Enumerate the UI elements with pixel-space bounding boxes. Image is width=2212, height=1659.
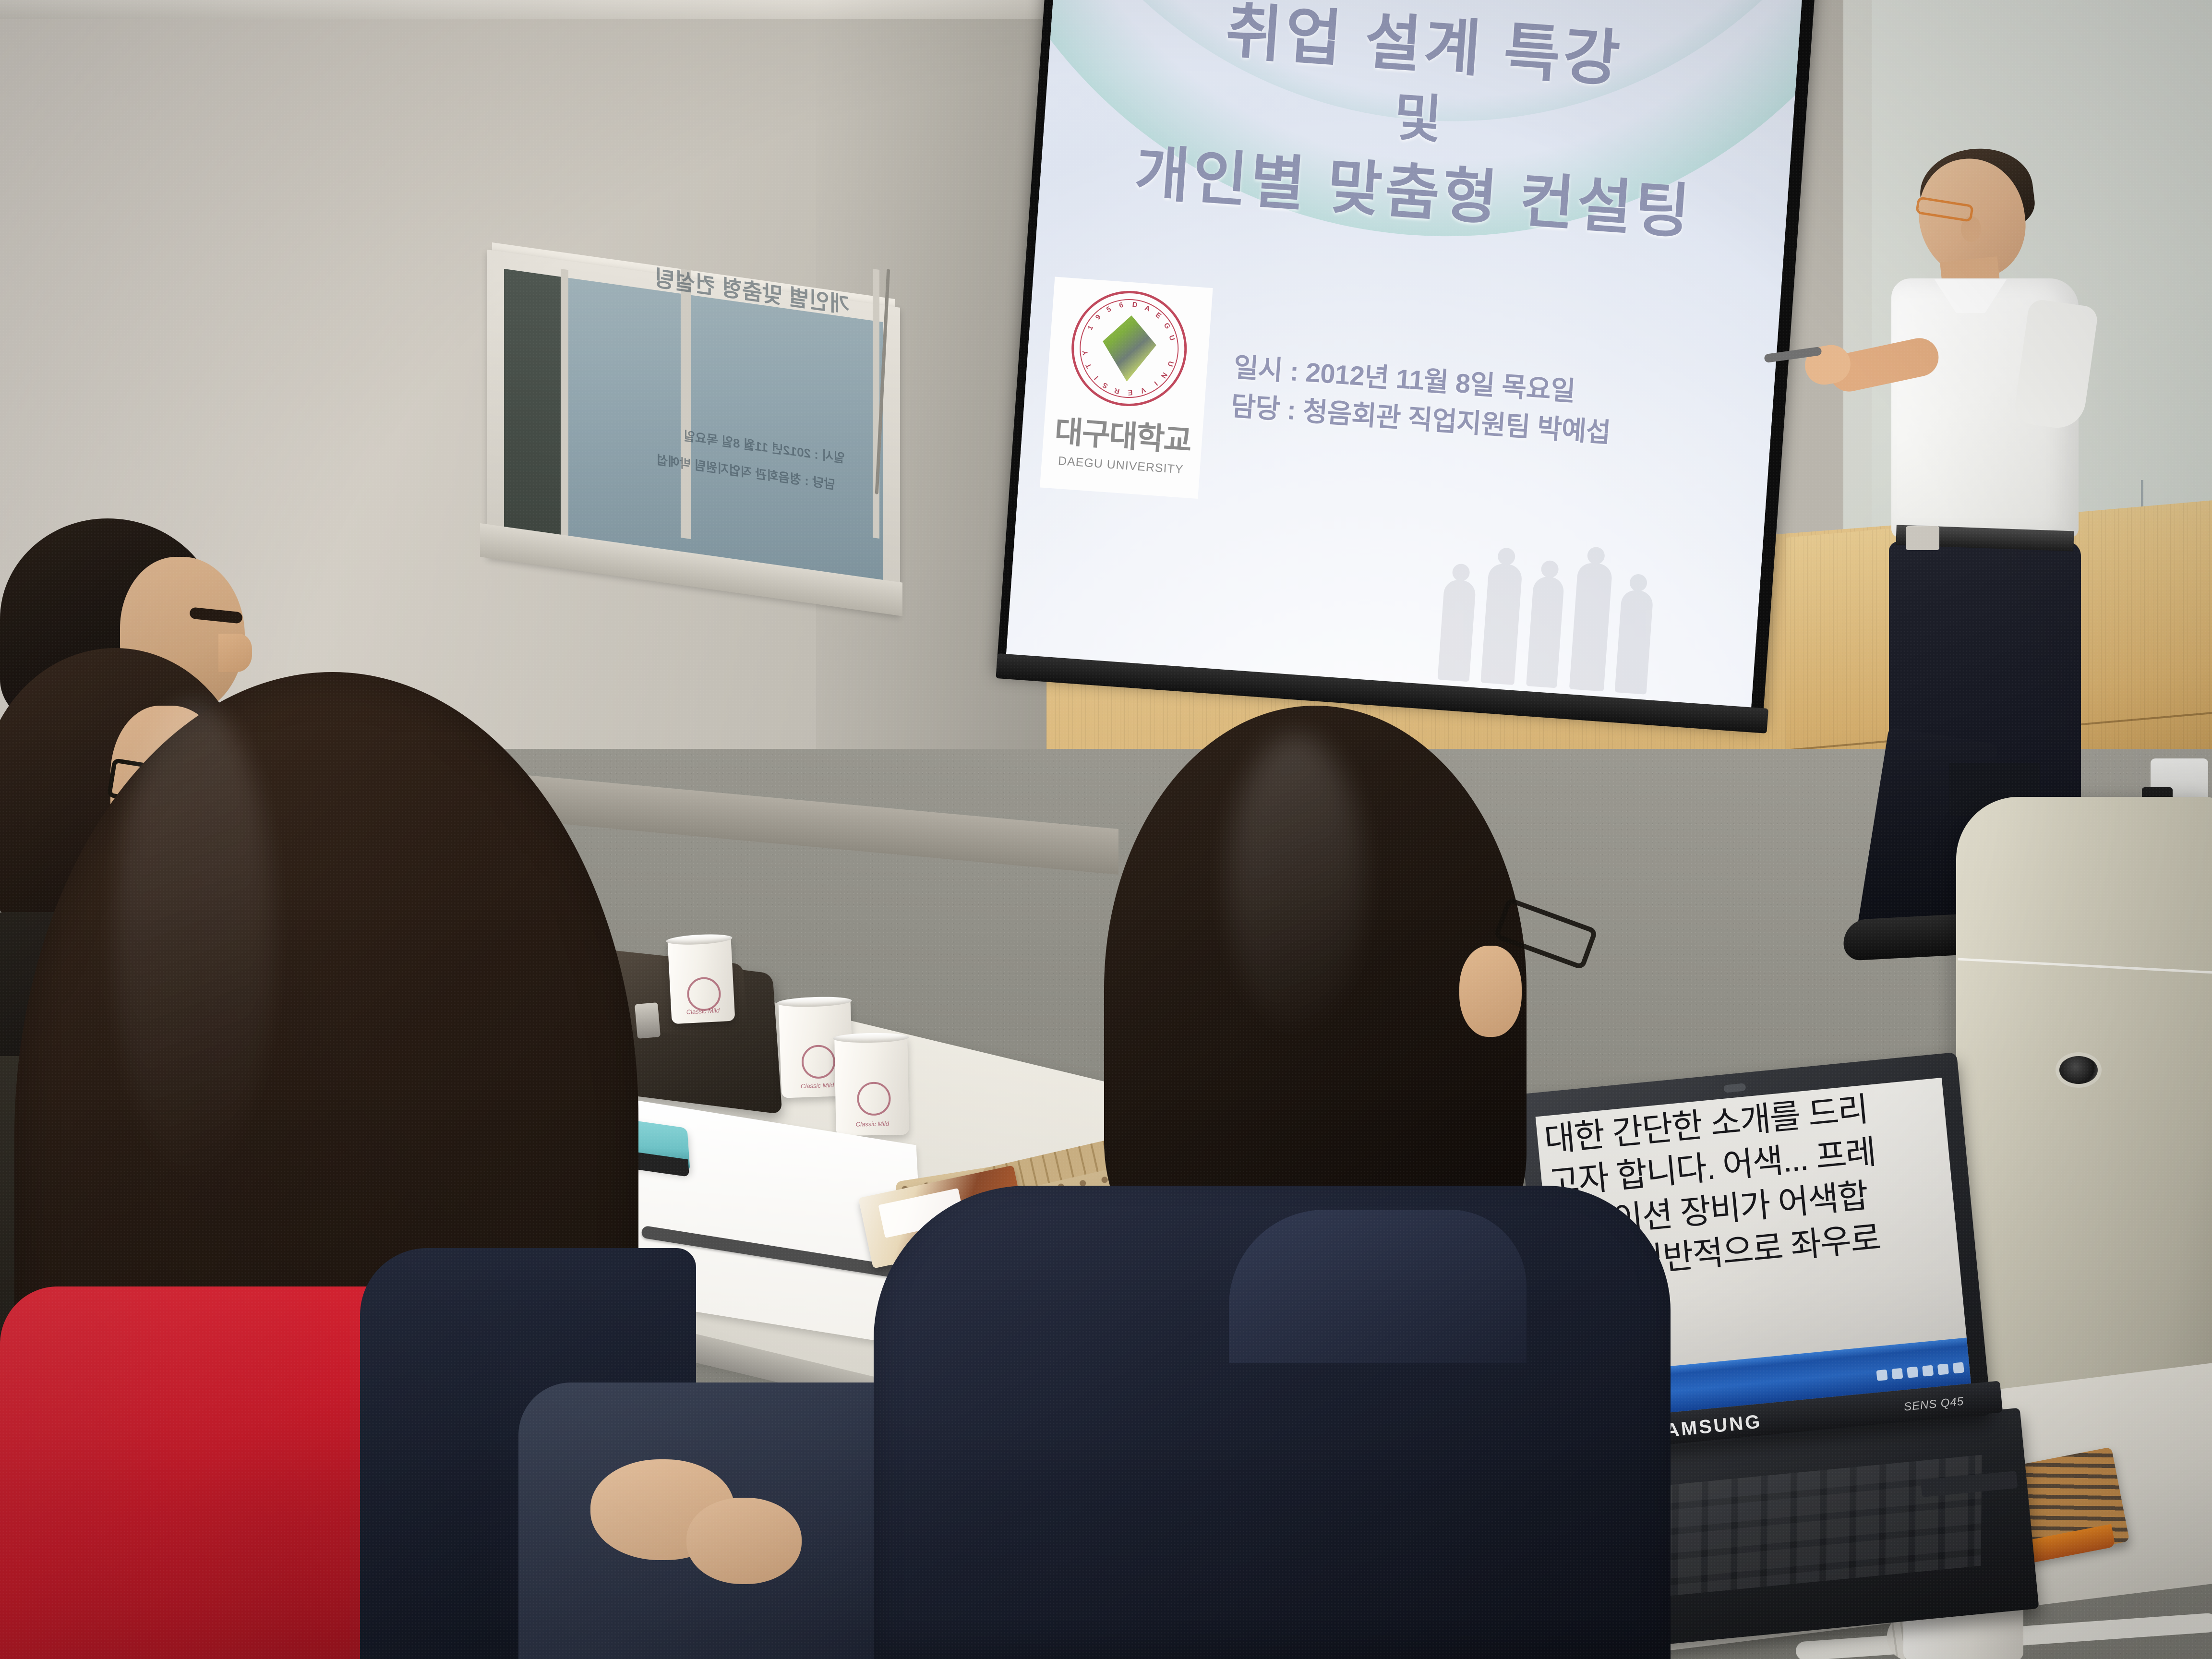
webcam-icon (1723, 1083, 1746, 1093)
hair-highlight (1229, 734, 1363, 1032)
window-dark-pane (504, 269, 564, 546)
tray-icon[interactable] (1876, 1370, 1888, 1381)
cup-label: Classic Mild (671, 1006, 735, 1016)
lock-icon[interactable] (2059, 1056, 2098, 1084)
attendee-front-woman-hand (686, 1498, 802, 1584)
paper-cup: Classic Mild (668, 937, 735, 1024)
university-logo: DAEGU UNIVERSITY 1956 대구대학교 DAEGU UNIVER… (1040, 277, 1213, 499)
tray-icon[interactable] (1922, 1365, 1934, 1377)
slide-meta-block: 일시 : 2012년 11월 8일 목요일 담당 : 청음회관 직업지원팀 박예… (1229, 348, 1738, 461)
tray-icon[interactable] (1891, 1368, 1903, 1380)
cup-logo-icon (857, 1082, 891, 1116)
belt-buckle-icon (1906, 526, 1939, 550)
tray-icon[interactable] (1907, 1367, 1918, 1378)
system-tray[interactable] (1876, 1362, 1964, 1381)
photo-scene: 개인별 맞춤형 컨설팅 일시 : 2012년 11월 8일 목요일 담당 : 청… (0, 0, 2212, 1659)
cup-logo-icon (801, 1045, 836, 1079)
university-name-ko: 대구대학교 (1053, 407, 1192, 460)
hair-highlight (115, 701, 274, 1181)
slide-surface: 취업 설계 특강 및 개인별 맞춤형 컨설팅 DAEGU UNIVERSITY … (1006, 0, 1804, 714)
cup-label: Classic Mild (836, 1120, 909, 1129)
university-seal-icon: DAEGU UNIVERSITY 1956 (1068, 287, 1191, 410)
seal-ring-text: DAEGU UNIVERSITY 1956 (1070, 289, 1188, 408)
window-mullion (561, 269, 568, 539)
bag-buckle-icon (635, 1002, 661, 1039)
tray-icon[interactable] (1937, 1364, 1949, 1375)
tray-icon[interactable] (1953, 1362, 1964, 1373)
attendee-center-man-collar (1229, 1210, 1527, 1363)
window-mullion (873, 269, 879, 539)
paper-cup: Classic Mild (834, 1036, 909, 1136)
slide-background-silhouettes (1428, 478, 1692, 697)
attendee-center-man-ear (1459, 946, 1522, 1037)
window-mullion (681, 269, 691, 539)
projection-screen: 취업 설계 특강 및 개인별 맞춤형 컨설팅 DAEGU UNIVERSITY … (994, 0, 1817, 754)
cup-logo-icon (686, 976, 722, 1011)
screen-border: 취업 설계 특강 및 개인별 맞춤형 컨설팅 DAEGU UNIVERSITY … (997, 0, 1817, 725)
attendee-man-nose (218, 634, 252, 672)
presenter-shoe (1842, 914, 1974, 961)
